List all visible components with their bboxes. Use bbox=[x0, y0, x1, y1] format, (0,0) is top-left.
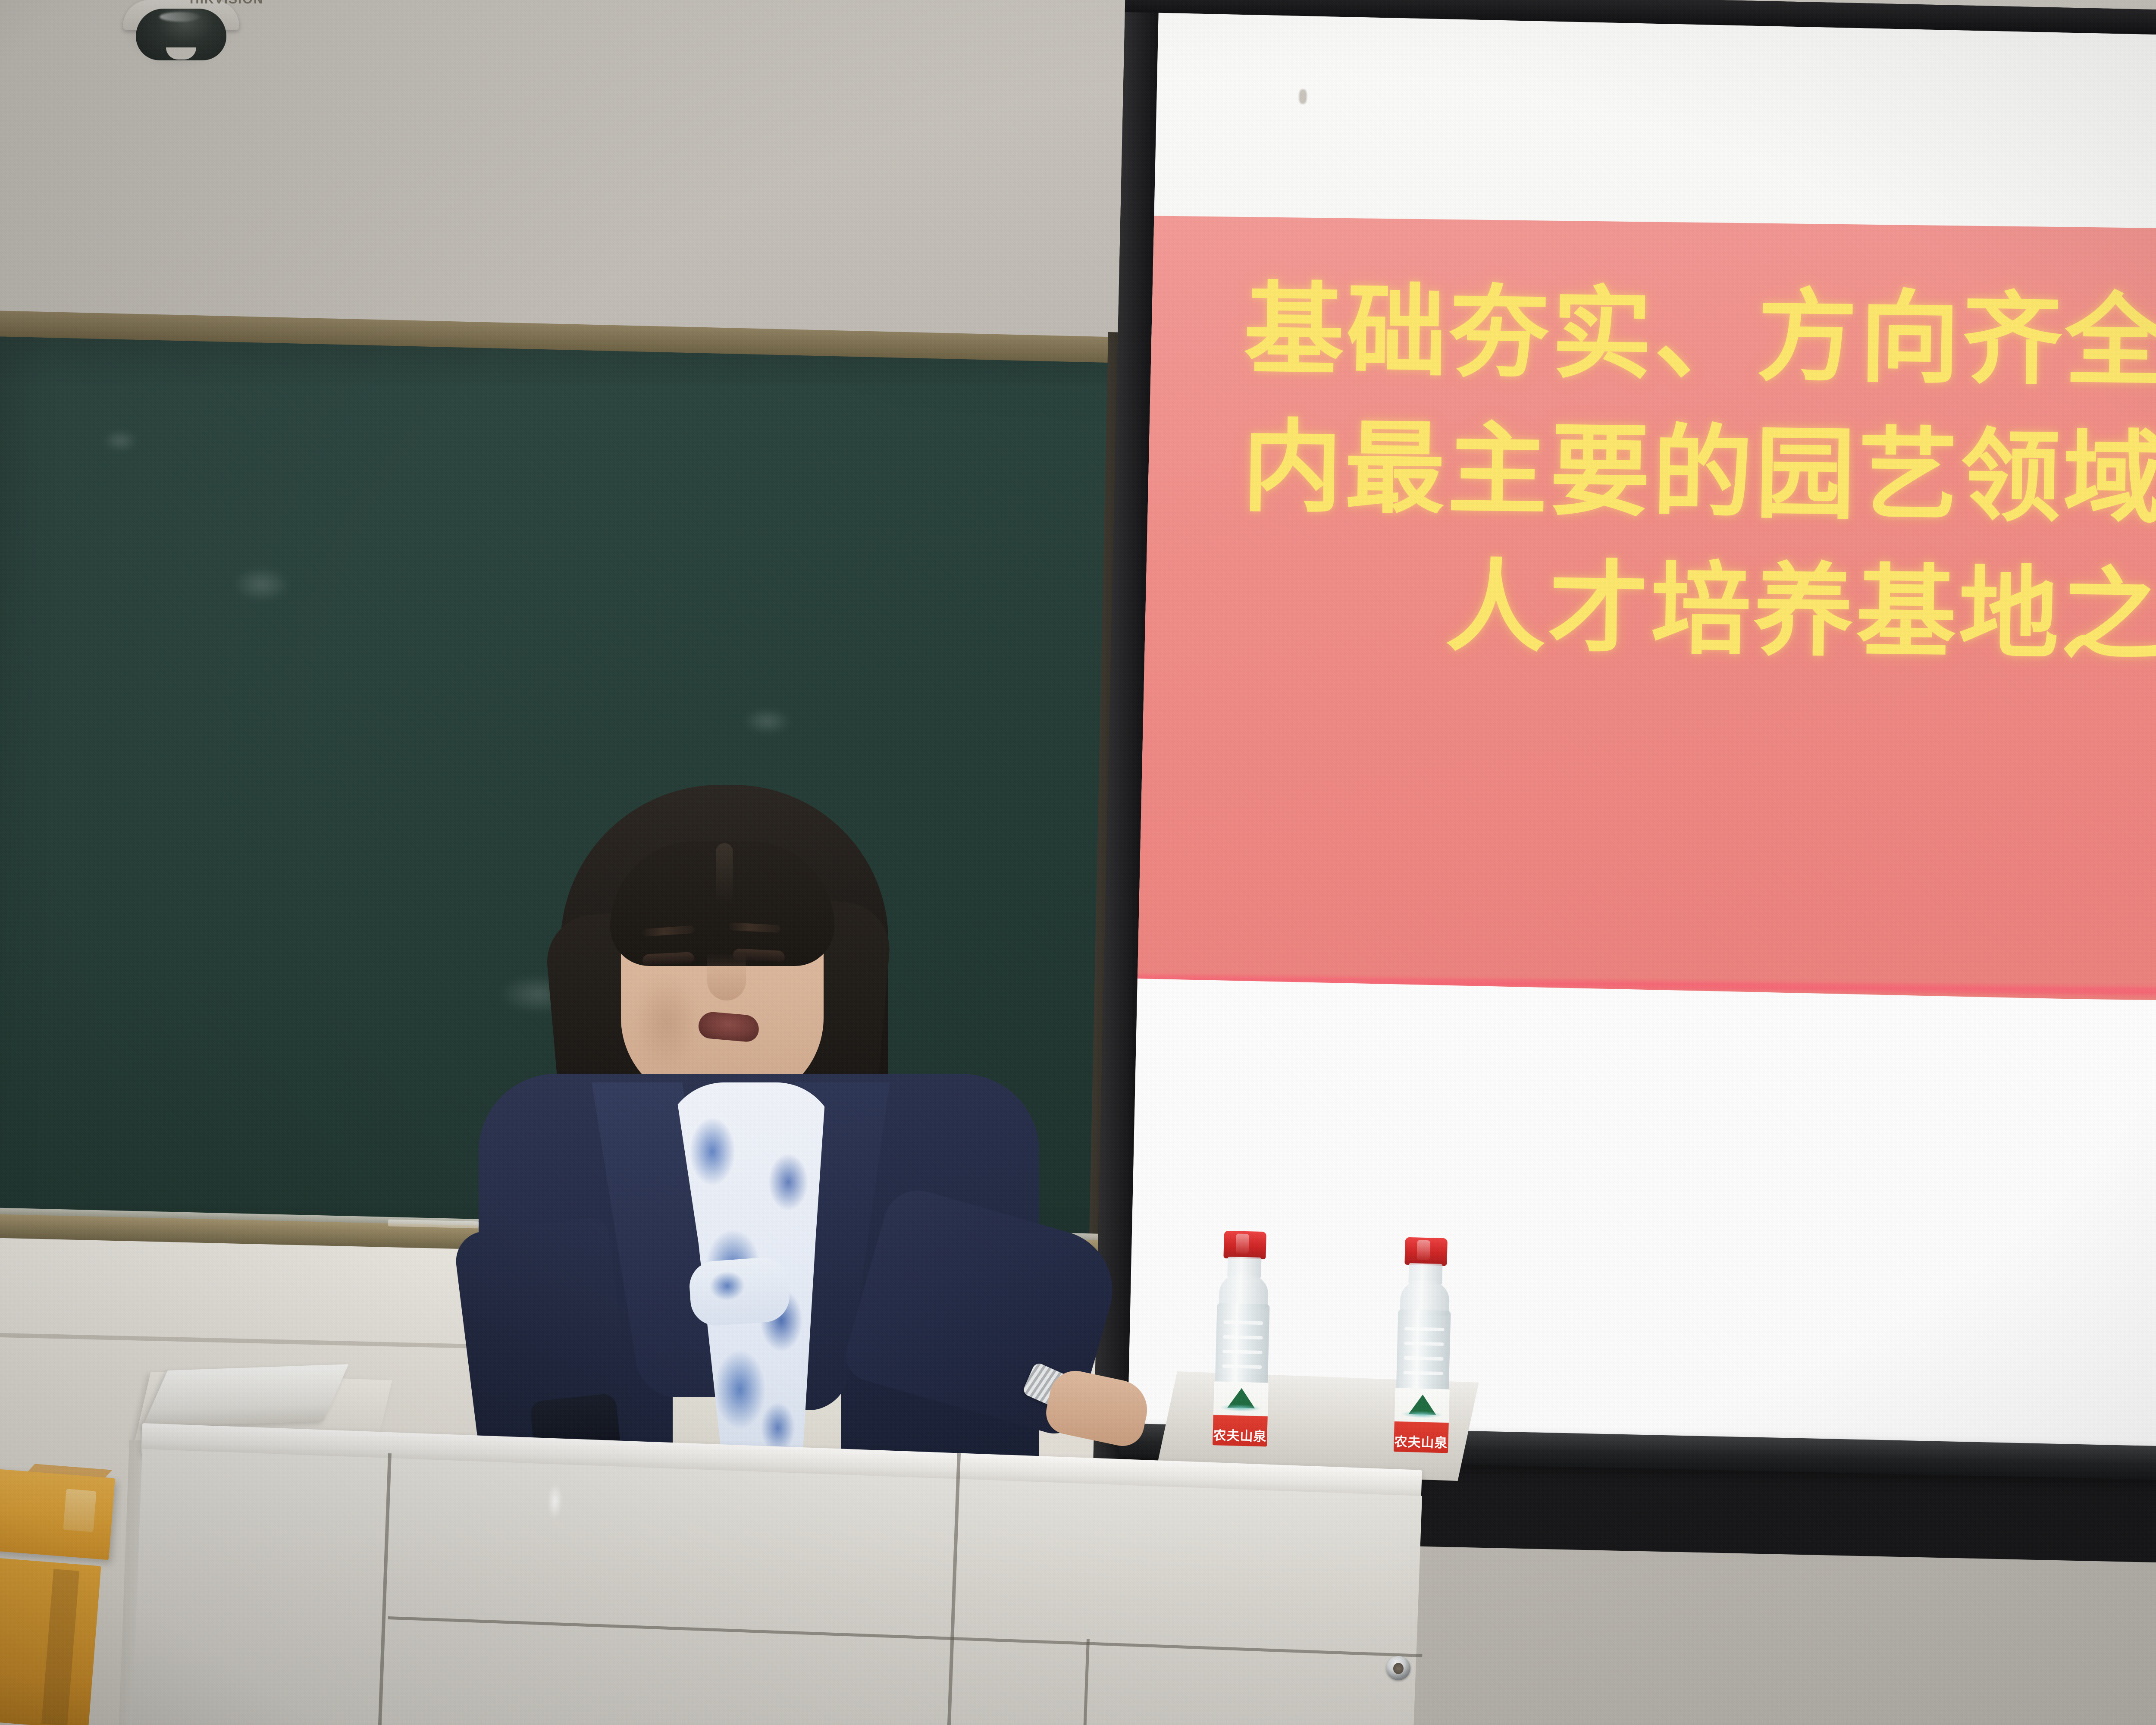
bottle-label: 农夫山泉 bbox=[1213, 1381, 1269, 1446]
chalk-smudge bbox=[233, 566, 290, 602]
cheek-shadow bbox=[634, 975, 699, 1069]
chalk-smudge bbox=[743, 708, 791, 735]
nose bbox=[707, 953, 746, 1000]
slide-text-block: 基础夯实、方向齐全，是国 内最主要的园艺领域高层次 人才培养基地之一 bbox=[1146, 260, 2156, 690]
cap-highlight bbox=[1417, 1240, 1430, 1260]
bottle-cap bbox=[1404, 1237, 1448, 1266]
bottle-ridge bbox=[1404, 1356, 1444, 1361]
bottle-ridge bbox=[1223, 1335, 1263, 1339]
slide-line-3: 人才培养基地之一 bbox=[1146, 534, 2156, 690]
speaker-person bbox=[431, 772, 1143, 1462]
keyhole-icon bbox=[1393, 1663, 1404, 1675]
bottle-cap bbox=[1223, 1231, 1266, 1260]
chair-backrest-notch bbox=[63, 1489, 96, 1532]
bottle-ridge bbox=[1404, 1371, 1443, 1375]
bottle-ridge bbox=[1222, 1364, 1262, 1369]
bottle-brand-text: 农夫山泉 bbox=[1213, 1424, 1267, 1445]
podium-front-panel bbox=[131, 1449, 1422, 1725]
slide-line-2: 内最主要的园艺领域高层次 bbox=[1148, 398, 2156, 553]
camera-brand-label: HIKVISION bbox=[190, 0, 263, 7]
chalk-smudge bbox=[103, 430, 138, 452]
cap-highlight bbox=[1236, 1233, 1249, 1254]
wooden-chair-backrest[interactable] bbox=[0, 1468, 115, 1560]
podium-paint-smudge bbox=[547, 1483, 563, 1519]
hair-part bbox=[716, 843, 733, 903]
bottle-ridge bbox=[1404, 1342, 1444, 1346]
screen-dust-speck bbox=[1299, 89, 1307, 104]
bottle-ridge bbox=[1223, 1350, 1263, 1354]
classroom-photo-scene: HIKVISION 基础夯实、方向齐全，是国 内最主要的园艺领域高层次 人才培养… bbox=[0, 0, 2156, 1725]
slide-top-white-band bbox=[1154, 13, 2156, 251]
scarf-knot bbox=[688, 1256, 791, 1327]
hand-right bbox=[1042, 1366, 1153, 1450]
bottle-ridge bbox=[1223, 1320, 1263, 1325]
bottle-label: 农夫山泉 bbox=[1394, 1388, 1450, 1453]
slide-line-1: 基础夯实、方向齐全，是国 bbox=[1150, 260, 2156, 416]
bottle-brand-text: 农夫山泉 bbox=[1394, 1431, 1448, 1451]
camera-dome-highlight bbox=[160, 12, 201, 22]
screen-surface: 基础夯实、方向齐全，是国 内最主要的园艺领域高层次 人才培养基地之一 bbox=[1128, 13, 2156, 1462]
bottle-ridge bbox=[1404, 1327, 1444, 1331]
security-camera: HIKVISION bbox=[110, 0, 252, 86]
laptop-lid[interactable] bbox=[142, 1364, 349, 1427]
